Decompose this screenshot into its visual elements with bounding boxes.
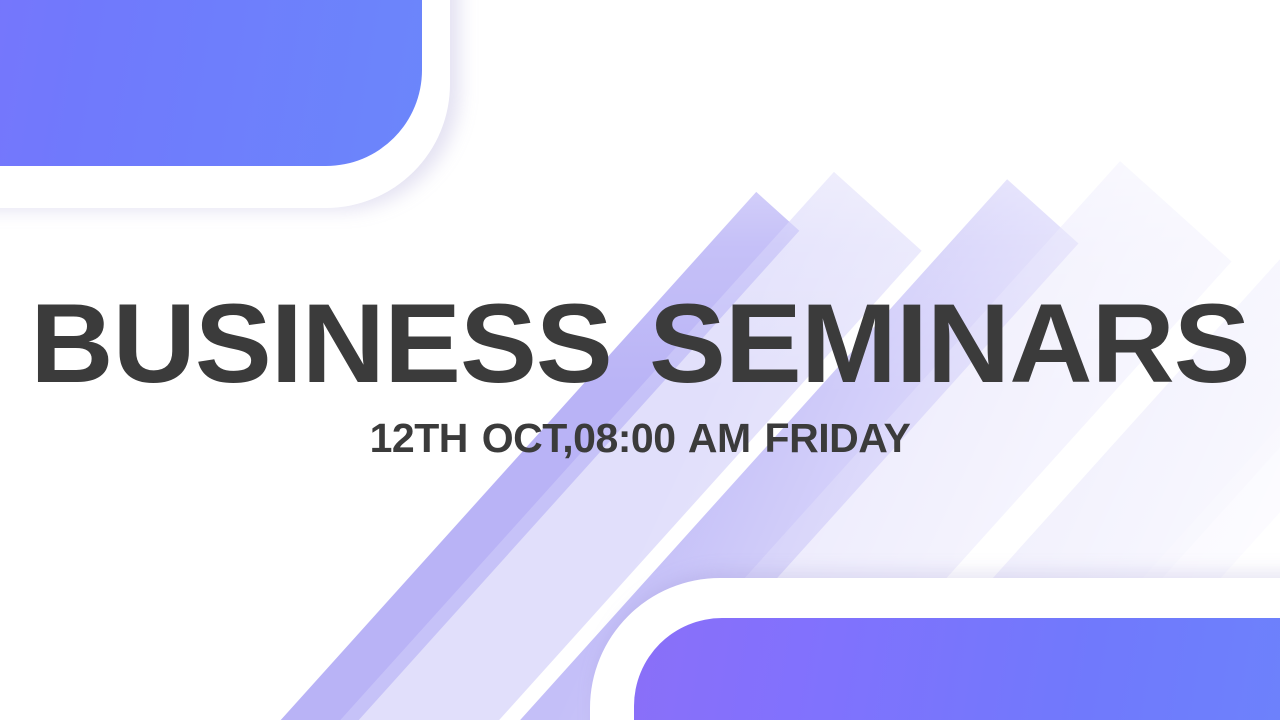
poster-text-block: BUSINESS SEMINARS 12TH OCT,08:00 AM FRID… bbox=[0, 288, 1280, 459]
event-poster: BUSINESS SEMINARS 12TH OCT,08:00 AM FRID… bbox=[0, 0, 1280, 720]
top-left-gradient-shape bbox=[0, 0, 422, 166]
poster-headline: BUSINESS SEMINARS bbox=[0, 288, 1280, 400]
bottom-right-gradient-shape bbox=[634, 618, 1280, 720]
poster-subheadline: 12TH OCT,08:00 AM FRIDAY bbox=[0, 418, 1280, 459]
